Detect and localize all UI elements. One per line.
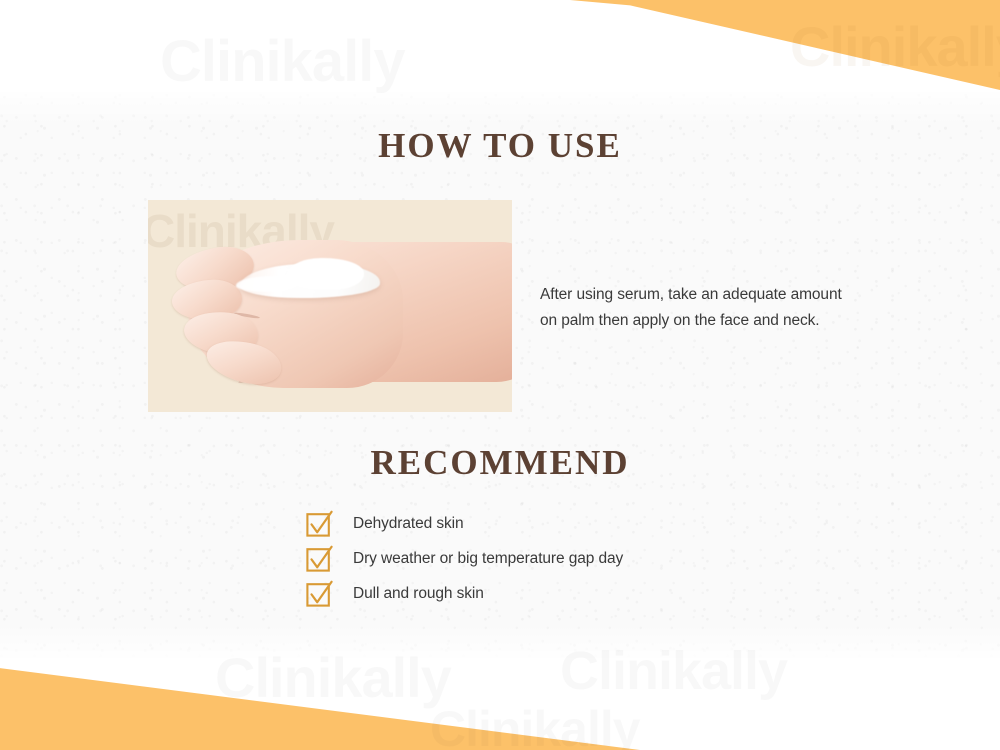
watermark: Clinikally — [160, 28, 405, 95]
checkbox-checked-icon — [306, 511, 332, 537]
instruction-line: on palm then apply on the face and neck. — [540, 308, 870, 334]
top-right-orange-wedge — [570, 0, 1000, 90]
recommend-heading: RECOMMEND — [0, 443, 1000, 483]
watermark: Clinikally — [790, 14, 1000, 79]
list-item-label: Dry weather or big temperature gap day — [353, 551, 623, 567]
list-item: Dry weather or big temperature gap day — [306, 541, 826, 576]
checkbox-checked-icon — [306, 546, 332, 572]
list-item-label: Dehydrated skin — [353, 516, 464, 532]
hand-with-cream-photo: Clinikally — [148, 200, 512, 412]
list-item-label: Dull and rough skin — [353, 586, 484, 602]
instruction-line: After using serum, take an adequate amou… — [540, 282, 870, 308]
page-canvas: Clinikally Clinikally Clinikally Clinika… — [0, 0, 1000, 750]
cream-smear-highlight — [286, 258, 364, 290]
bottom-left-orange-wedge — [0, 645, 640, 750]
checkbox-checked-icon — [306, 581, 332, 607]
recommend-list: Dehydrated skin Dry weather or big tempe… — [306, 506, 826, 611]
how-to-use-instructions: After using serum, take an adequate amou… — [540, 282, 870, 334]
list-item: Dull and rough skin — [306, 576, 826, 611]
watermark: Clinikally — [430, 700, 640, 750]
cream-smear-tail — [236, 276, 298, 292]
how-to-use-heading: HOW TO USE — [0, 126, 1000, 166]
list-item: Dehydrated skin — [306, 506, 826, 541]
